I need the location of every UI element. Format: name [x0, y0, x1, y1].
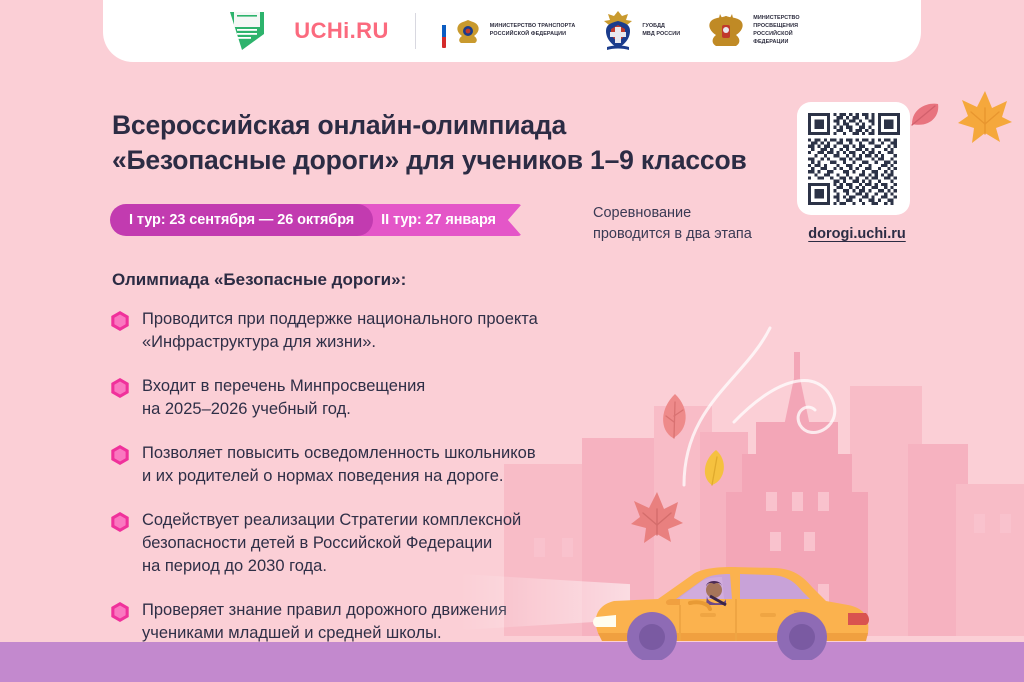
natsproekty-logo — [224, 10, 268, 52]
mintrans-caption: Министерство транспорта Российской Федер… — [490, 23, 576, 39]
badge-round-2: II тур: 27 января — [353, 204, 522, 236]
guobdd-caption: ГУОБДД МВД России — [642, 23, 680, 39]
mintrans-logo: Министерство транспорта Российской Федер… — [442, 14, 576, 48]
poster: UCHi.RU Министерство транспорта Российск… — [0, 0, 1024, 682]
site-link[interactable]: dorogi.uchi.ru — [797, 226, 917, 242]
list-item-text: Позволяет повысить осведомленность школь… — [142, 442, 536, 489]
list-item-text: Входит в перечень Минпросвещения на 2025… — [142, 375, 425, 422]
natsproekty-icon — [224, 10, 268, 52]
two-stage-note: Соревнование проводится в два этапа — [593, 203, 752, 244]
qr-code-image — [808, 113, 900, 205]
gem-icon — [110, 601, 130, 623]
page-title: Всероссийская онлайн-олимпиада «Безопасн… — [112, 108, 772, 178]
gem-icon — [110, 511, 130, 533]
leaf-coral — [658, 392, 692, 442]
list-item: Проводится при поддержке национального п… — [110, 308, 630, 355]
gem-icon — [110, 377, 130, 399]
swirl-decoration — [674, 310, 874, 500]
double-eagle-icon — [453, 16, 483, 46]
badge-round-1: I тур: 23 сентября — 26 октября — [110, 204, 373, 236]
qr-code[interactable] — [797, 102, 910, 215]
title-line-1: Всероссийская онлайн-олимпиада — [112, 108, 772, 143]
list-item-text: Проводится при поддержке национального п… — [142, 308, 538, 355]
gem-icon — [110, 444, 130, 466]
leaf-coral-small — [908, 100, 942, 130]
list-item-text: Проверяет знание правил дорожного движен… — [142, 599, 507, 646]
yellow-car — [580, 555, 880, 660]
partner-logo-bar: UCHi.RU Министерство транспорта Российск… — [103, 0, 921, 62]
uchiru-wordmark: UCHi.RU — [294, 18, 388, 44]
maple-leaf-coral — [628, 490, 686, 546]
round-badges: I тур: 23 сентября — 26 октября II тур: … — [110, 204, 522, 236]
guobdd-mvd-logo: ГУОБДД МВД России — [601, 9, 680, 53]
uchiru-logo: UCHi.RU — [294, 18, 388, 44]
list-item: Содействует реализации Стратегии комплек… — [110, 509, 630, 579]
list-item-text: Содействует реализации Стратегии комплек… — [142, 509, 521, 579]
title-line-2: «Безопасные дороги» для учеников 1–9 кла… — [112, 143, 772, 178]
maple-leaf-orange — [955, 88, 1015, 146]
list-item: Входит в перечень Минпросвещения на 2025… — [110, 375, 630, 422]
tricolor-bar — [442, 14, 446, 48]
leaf-yellow — [700, 448, 730, 488]
gem-icon — [110, 310, 130, 332]
minprosvescheniya-caption: Министерство просвещения Российской Феде… — [753, 15, 799, 46]
list-item: Позволяет повысить осведомленность школь… — [110, 442, 630, 489]
list-heading: Олимпиада «Безопасные дороги»: — [112, 270, 406, 290]
minprosvescheniya-logo: Министерство просвещения Российской Феде… — [706, 13, 799, 49]
mvd-emblem-icon — [601, 9, 635, 53]
double-eagle-icon-2 — [706, 13, 746, 49]
logo-divider — [415, 13, 416, 49]
